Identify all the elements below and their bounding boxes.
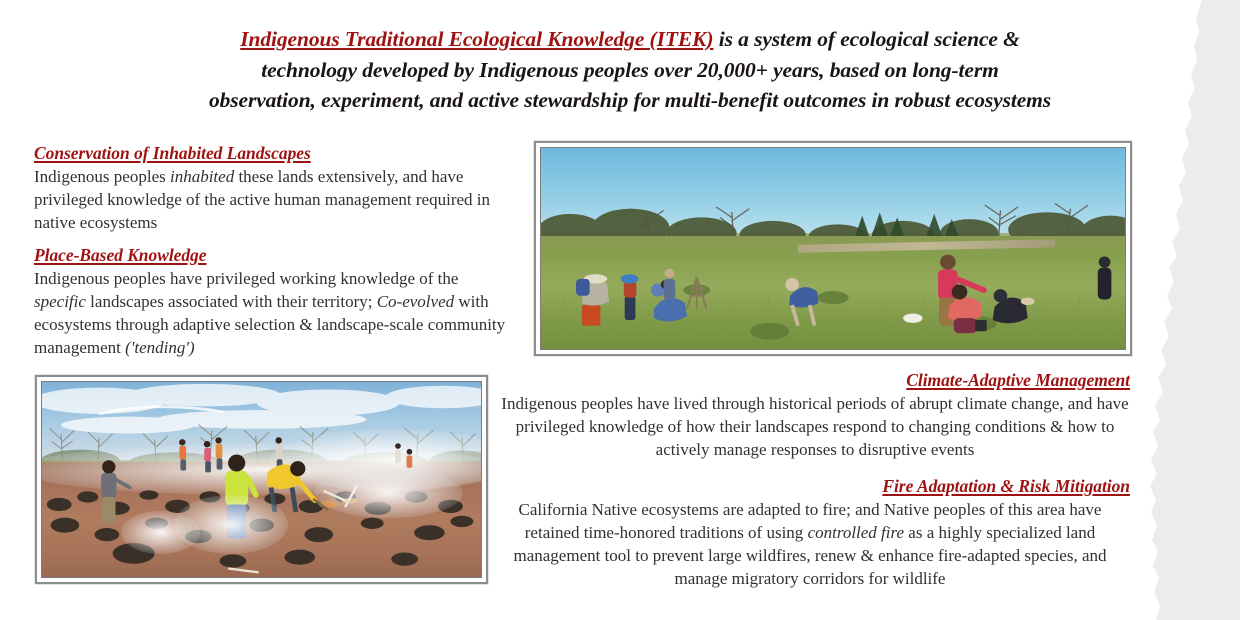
title-rest-line1: is a system of ecological science & (713, 27, 1019, 51)
meadow-scene (541, 148, 1125, 349)
section-conservation: Conservation of Inhabited Landscapes Ind… (34, 143, 504, 234)
section-climate-body: Indigenous peoples have lived through hi… (500, 392, 1130, 461)
section-place-based: Place-Based Knowledge Indigenous peoples… (34, 245, 514, 359)
photo-burn-inner (41, 381, 482, 578)
title-line2: technology developed by Indigenous peopl… (261, 58, 998, 82)
place-emphasis-tending: ('tending') (125, 338, 195, 357)
conservation-emphasis-inhabited: inhabited (170, 167, 234, 186)
photo-meadow-tending (534, 141, 1132, 356)
photo-cultural-burn (35, 375, 488, 584)
conservation-body-pre: Indigenous peoples (34, 167, 170, 186)
title-highlight: Indigenous Traditional Ecological Knowle… (240, 27, 713, 51)
section-fire-heading: Fire Adaptation & Risk Mitigation (490, 476, 1130, 497)
place-body-pre: Indigenous peoples have privileged worki… (34, 269, 458, 288)
burn-scene (42, 382, 481, 577)
section-fire-body: California Native ecosystems are adapted… (490, 498, 1130, 590)
meadow-figures (541, 148, 1125, 349)
section-conservation-heading: Conservation of Inhabited Landscapes (34, 143, 504, 164)
section-conservation-body: Indigenous peoples inhabited these lands… (34, 165, 504, 234)
section-climate-heading: Climate-Adaptive Management (500, 370, 1130, 391)
burn-rocks-and-figures (42, 382, 481, 577)
section-fire-adaptation: Fire Adaptation & Risk Mitigation Califo… (490, 476, 1130, 590)
place-emphasis-specific: specific (34, 292, 86, 311)
photo-meadow-inner (540, 147, 1126, 350)
section-place-based-body: Indigenous peoples have privileged worki… (34, 267, 514, 359)
place-body-mid: landscapes associated with their territo… (86, 292, 377, 311)
section-place-based-heading: Place-Based Knowledge (34, 245, 514, 266)
title-line3: observation, experiment, and active stew… (209, 88, 1051, 112)
place-emphasis-coevolved: Co-evolved (377, 292, 454, 311)
section-climate-adaptive: Climate-Adaptive Management Indigenous p… (500, 370, 1130, 461)
fire-emphasis-controlled-fire: controlled fire (808, 523, 904, 542)
slide-canvas: Indigenous Traditional Ecological Knowle… (0, 0, 1240, 620)
slide-title: Indigenous Traditional Ecological Knowle… (150, 24, 1110, 116)
